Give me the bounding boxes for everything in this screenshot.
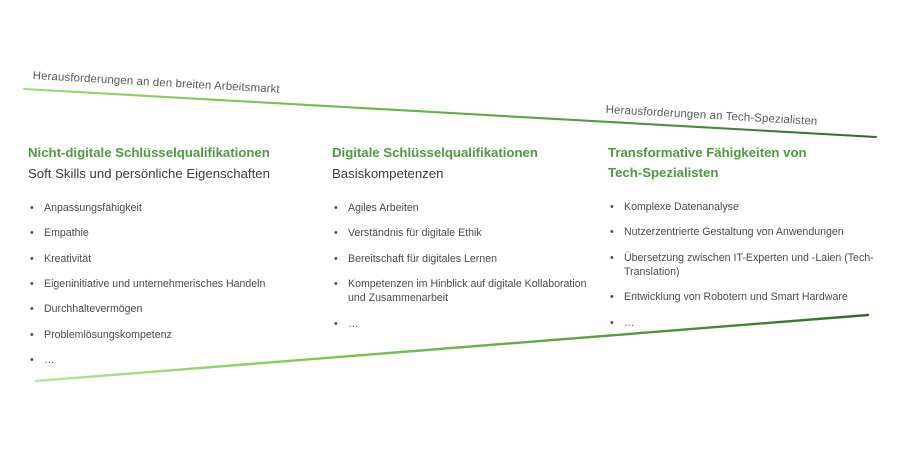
list-item: • Empathie <box>28 226 320 240</box>
list-item: • Kreativität <box>28 252 320 266</box>
bullet-icon: • <box>30 328 34 342</box>
column-title-line1: Digitale Schlüsselqualifikationen <box>332 145 538 160</box>
column-digital-skills: Digitale Schlüsselqualifikationen Basisk… <box>332 143 600 342</box>
list-item: • Nutzerzentrierte Gestaltung von Anwend… <box>608 225 880 239</box>
list-item-label: Eigeninitiative und unternehmerisches Ha… <box>44 277 320 291</box>
list-item: • Entwicklung von Robotern und Smart Har… <box>608 290 880 304</box>
list-item: • … <box>28 353 320 367</box>
bullet-icon: • <box>610 225 614 239</box>
bullet-icon: • <box>30 353 34 367</box>
list-item: • Anpassungsfähigkeit <box>28 201 320 215</box>
bullet-icon: • <box>30 226 34 240</box>
list-item-label: … <box>44 353 320 367</box>
bullet-icon: • <box>610 290 614 304</box>
list-item-label: Empathie <box>44 226 320 240</box>
list-item: • … <box>332 317 600 331</box>
bullet-icon: • <box>334 226 338 240</box>
bullet-list: • Agiles Arbeiten • Verständnis für digi… <box>332 201 600 331</box>
list-item-label: Übersetzung zwischen IT-Experten und -La… <box>624 251 880 280</box>
list-item: • Durchhaltevermögen <box>28 302 320 316</box>
column-title-line1: Nicht-digitale Schlüsselqualifikationen <box>28 145 270 160</box>
list-item-label: Agiles Arbeiten <box>348 201 600 215</box>
column-transformative-skills: Transformative Fähigkeiten von Tech-Spez… <box>608 143 880 341</box>
column-subtitle: Basiskompetenzen <box>332 164 600 184</box>
bullet-list: • Anpassungsfähigkeit • Empathie • Kreat… <box>28 201 320 367</box>
list-item-label: … <box>348 317 600 331</box>
slide-canvas: Herausforderungen an den breiten Arbeits… <box>0 0 900 450</box>
bullet-icon: • <box>30 252 34 266</box>
list-item: • Problemlösungskompetenz <box>28 328 320 342</box>
list-item-label: Anpassungsfähigkeit <box>44 201 320 215</box>
list-item-label: Durchhaltevermögen <box>44 302 320 316</box>
list-item-label: Problemlösungskompetenz <box>44 328 320 342</box>
bullet-icon: • <box>30 302 34 316</box>
bullet-icon: • <box>334 252 338 266</box>
column-title: Nicht-digitale Schlüsselqualifikationen <box>28 143 320 163</box>
column-title-line2: Tech-Spezialisten <box>608 163 880 183</box>
list-item: • Bereitschaft für digitales Lernen <box>332 252 600 266</box>
list-item-label: Entwicklung von Robotern und Smart Hardw… <box>624 290 880 304</box>
list-item-label: Verständnis für digitale Ethik <box>348 226 600 240</box>
column-title: Transformative Fähigkeiten von Tech-Spez… <box>608 143 880 183</box>
list-item-label: Nutzerzentrierte Gestaltung von Anwendun… <box>624 225 880 239</box>
list-item: • Übersetzung zwischen IT-Experten und -… <box>608 251 880 280</box>
column-non-digital-skills: Nicht-digitale Schlüsselqualifikationen … <box>28 143 320 378</box>
bullet-icon: • <box>30 277 34 291</box>
columns-container: Nicht-digitale Schlüsselqualifikationen … <box>0 0 900 450</box>
list-item: • Verständnis für digitale Ethik <box>332 226 600 240</box>
list-item-label: Komplexe Datenanalyse <box>624 200 880 214</box>
list-item-label: Kompetenzen im Hinblick auf digitale Kol… <box>348 277 600 306</box>
bullet-icon: • <box>334 277 338 291</box>
column-title: Digitale Schlüsselqualifikationen <box>332 143 600 163</box>
column-title-line1: Transformative Fähigkeiten von <box>608 145 807 160</box>
list-item: • Eigeninitiative und unternehmerisches … <box>28 277 320 291</box>
list-item: • Kompetenzen im Hinblick auf digitale K… <box>332 277 600 306</box>
bullet-list: • Komplexe Datenanalyse • Nutzerzentrier… <box>608 200 880 330</box>
bullet-icon: • <box>610 251 614 265</box>
list-item-label: Bereitschaft für digitales Lernen <box>348 252 600 266</box>
list-item-label: Kreativität <box>44 252 320 266</box>
list-item-label: … <box>624 316 880 330</box>
bullet-icon: • <box>334 317 338 331</box>
column-subtitle: Soft Skills und persönliche Eigenschafte… <box>28 164 320 184</box>
list-item: • Agiles Arbeiten <box>332 201 600 215</box>
list-item: • Komplexe Datenanalyse <box>608 200 880 214</box>
bullet-icon: • <box>610 200 614 214</box>
bullet-icon: • <box>610 316 614 330</box>
bullet-icon: • <box>334 201 338 215</box>
bullet-icon: • <box>30 201 34 215</box>
list-item: • … <box>608 316 880 330</box>
